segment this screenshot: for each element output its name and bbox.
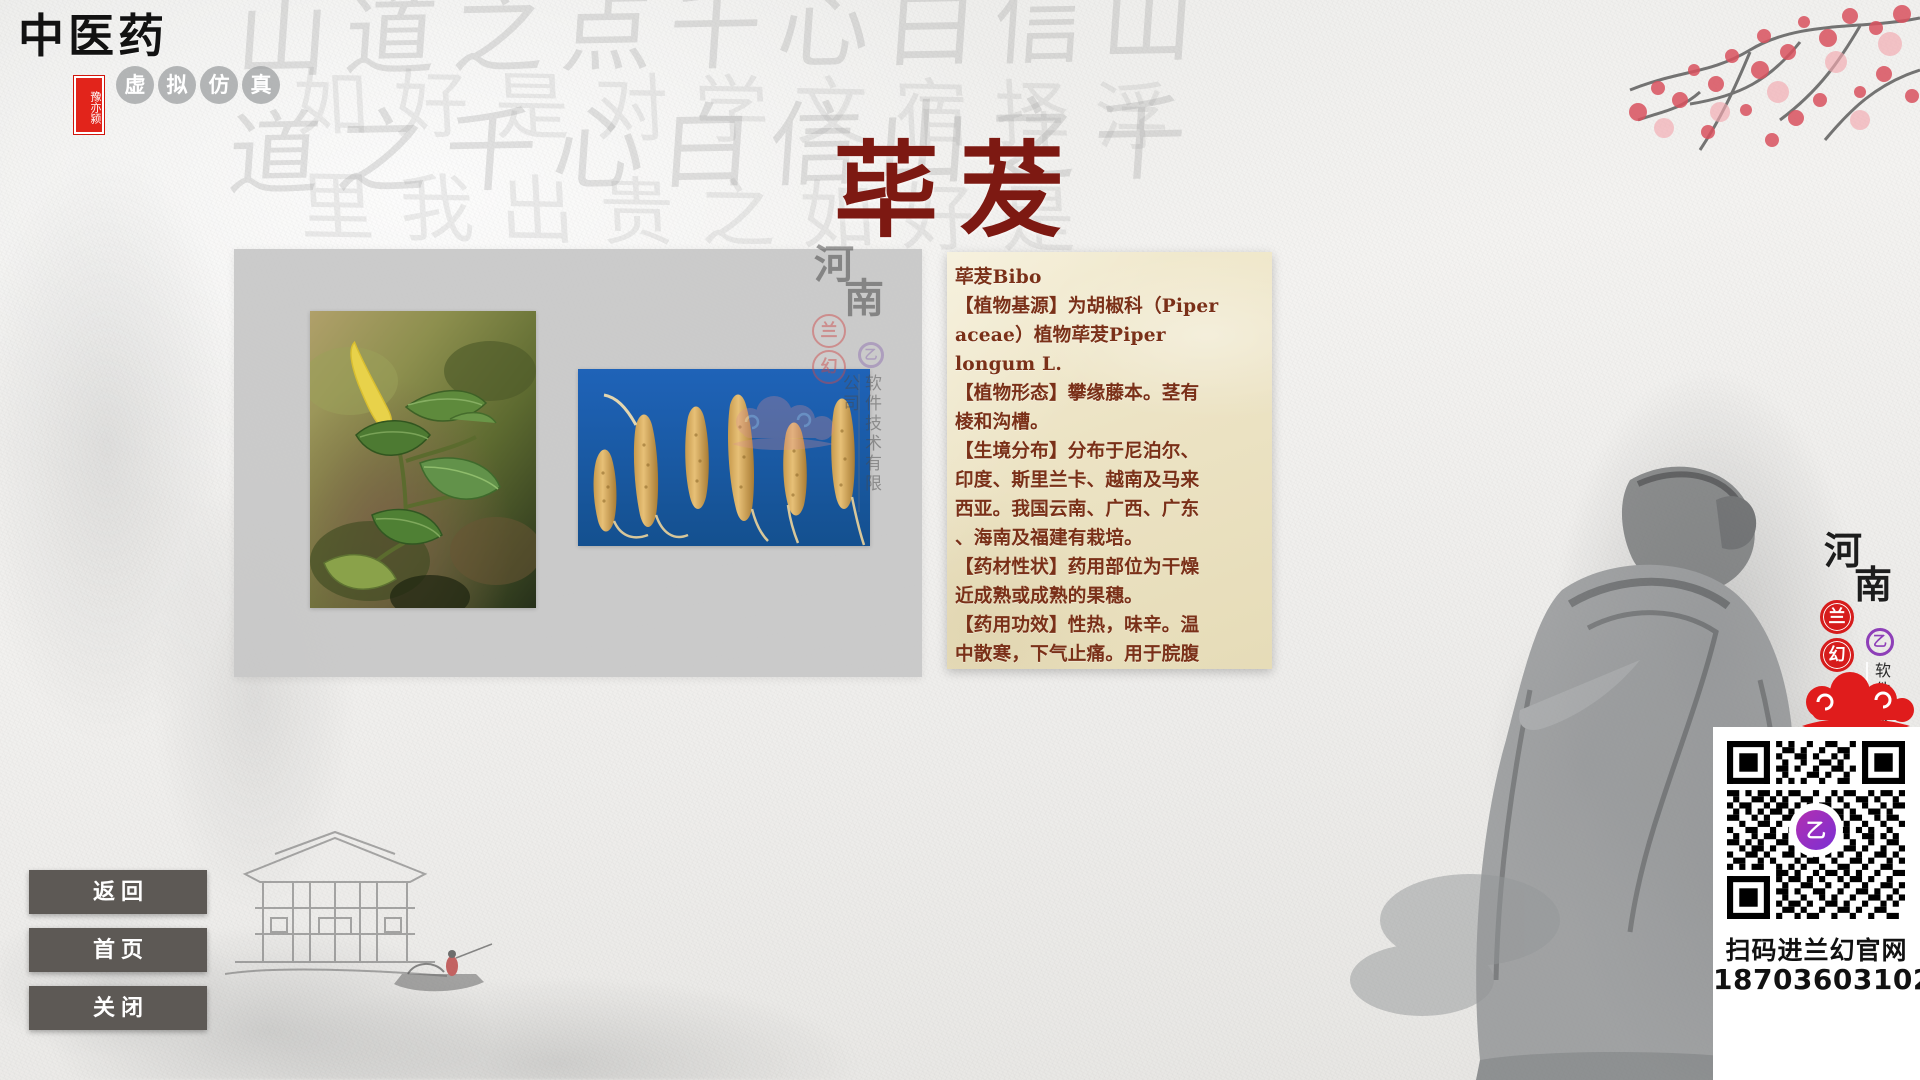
home-button[interactable]: 首页 xyxy=(29,928,207,972)
logo-subtitle: 虚 拟 仿 真 xyxy=(116,66,280,104)
qr-phone-number: 18703603102 xyxy=(1713,963,1920,996)
brand-nan: 南 xyxy=(1854,554,1892,609)
plant-photo xyxy=(310,311,536,608)
app-background: 山道之点千心白信山道之千心白信山之千 如好是对学文宿择浮里我出贵之如好是 xyxy=(0,0,1920,1080)
qr-center-logo: 乙 xyxy=(1789,803,1843,857)
brand-mark-icon: 乙 xyxy=(1866,628,1894,656)
nav-button-group: 返回 首页 关闭 xyxy=(29,870,207,1044)
brand-he: 河 xyxy=(1824,520,1862,575)
logo-sub-char-2: 拟 xyxy=(158,66,196,104)
close-button[interactable]: 关闭 xyxy=(29,986,207,1030)
pavilion-sketch-icon xyxy=(215,812,455,992)
back-button[interactable]: 返回 xyxy=(29,870,207,914)
boat-sketch-icon xyxy=(380,940,500,1000)
logo-sub-char-3: 仿 xyxy=(200,66,238,104)
brand-seal-lan: 兰 xyxy=(1820,600,1854,634)
qr-logo-char: 乙 xyxy=(1796,810,1836,850)
app-logo: 中医药 豫亦颍 虚 拟 仿 真 xyxy=(12,10,292,130)
logo-seal: 豫亦颍 xyxy=(74,76,104,134)
logo-sub-char-4: 真 xyxy=(242,66,280,104)
info-panel-text: 荜茇Bibo 【植物基源】为胡椒科（Piper aceae）植物荜茇Piper … xyxy=(947,252,1272,669)
info-panel: 荜茇Bibo 【植物基源】为胡椒科（Piper aceae）植物荜茇Piper … xyxy=(947,252,1272,669)
logo-sub-char-1: 虚 xyxy=(116,66,154,104)
page-title: 荜茇 xyxy=(0,132,1920,250)
plum-blossom-branch-icon xyxy=(1160,0,1920,240)
qr-block: 乙 扫码进兰幻官网 18703603102 xyxy=(1713,727,1920,1080)
qr-caption: 扫码进兰幻官网 xyxy=(1713,931,1920,967)
specimen-photo xyxy=(578,369,870,546)
brand-seal-huan: 幻 xyxy=(1820,638,1854,672)
logo-title: 中医药 xyxy=(12,10,292,62)
